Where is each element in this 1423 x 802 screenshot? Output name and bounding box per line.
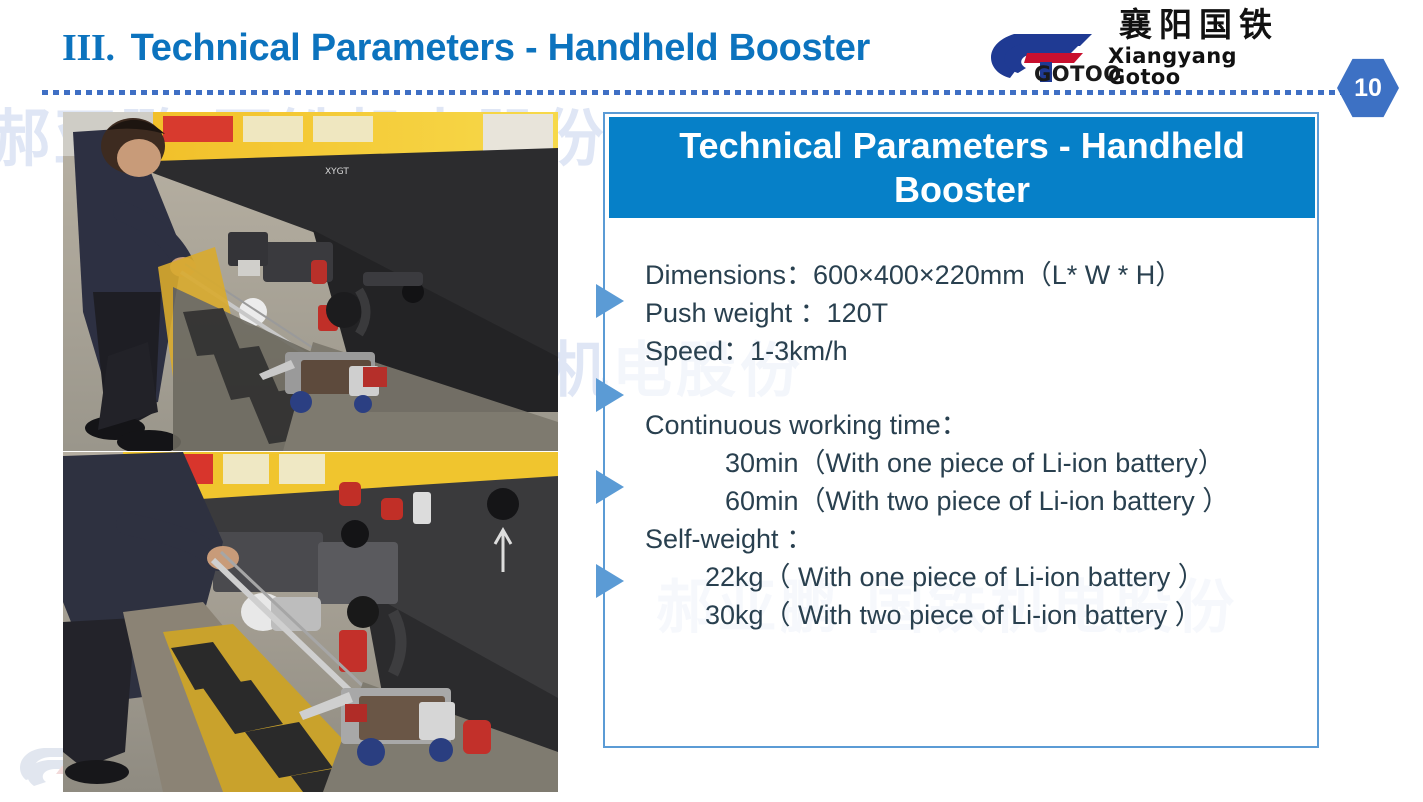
panel-spacer — [645, 370, 1305, 406]
param-working-time-60min: 60min（With two piece of Li-ion battery ） — [645, 482, 1305, 520]
param-self-weight-label: Self-weight ： — [645, 520, 1305, 558]
company-name-chinese: 襄阳国铁 — [1119, 8, 1279, 41]
gotoo-wordmark: GOTOO — [1034, 62, 1122, 86]
company-logo: GOTOO 襄阳国铁 Xiangyang Gotoo — [980, 22, 1290, 88]
param-speed: Speed：1-3km/h — [645, 332, 1305, 370]
photo-booster-in-use-top: XYGT — [63, 112, 558, 451]
parameters-panel: Technical Parameters - Handheld Booster … — [603, 112, 1319, 748]
param-working-time-30min: 30min（With one piece of Li-ion battery） — [645, 444, 1305, 482]
photo-booster-in-use-bottom — [63, 452, 558, 792]
page-number: 10 — [1354, 74, 1382, 103]
svg-text:XYGT: XYGT — [325, 167, 349, 177]
param-working-time-label: Continuous working time： — [645, 406, 1305, 444]
page-number-badge: 10 — [1337, 57, 1399, 119]
title-divider — [42, 90, 1382, 95]
param-dimensions: Dimensions：600×400×220mm（L* W * H） — [645, 256, 1305, 294]
company-name-english: Xiangyang Gotoo — [1108, 46, 1290, 88]
param-push-weight: Push weight ：120T — [645, 294, 1305, 332]
panel-body: Dimensions：600×400×220mm（L* W * H） Push … — [645, 256, 1305, 634]
hexagon-icon: 10 — [1337, 57, 1399, 119]
section-numeral: III. — [62, 27, 115, 69]
param-self-weight-22kg: 22kg（ With one piece of Li-ion battery ） — [645, 558, 1305, 596]
gotoo-logo-icon: GOTOO — [980, 26, 1102, 88]
page-title-text: Technical Parameters - Handheld Booster — [131, 27, 870, 69]
panel-header-title: Technical Parameters - Handheld Booster — [609, 117, 1315, 218]
param-self-weight-30kg: 30kg（ With two piece of Li-ion battery ） — [645, 596, 1305, 634]
page-title: III.Technical Parameters - Handheld Boos… — [62, 26, 870, 70]
slide-canvas: 郝亚鹏 国铁机电股份 国铁机电股份 郝亚鹏 国铁机电股份 GOTOO III.T… — [0, 0, 1423, 802]
company-name-block: 襄阳国铁 Xiangyang Gotoo — [1108, 8, 1290, 88]
